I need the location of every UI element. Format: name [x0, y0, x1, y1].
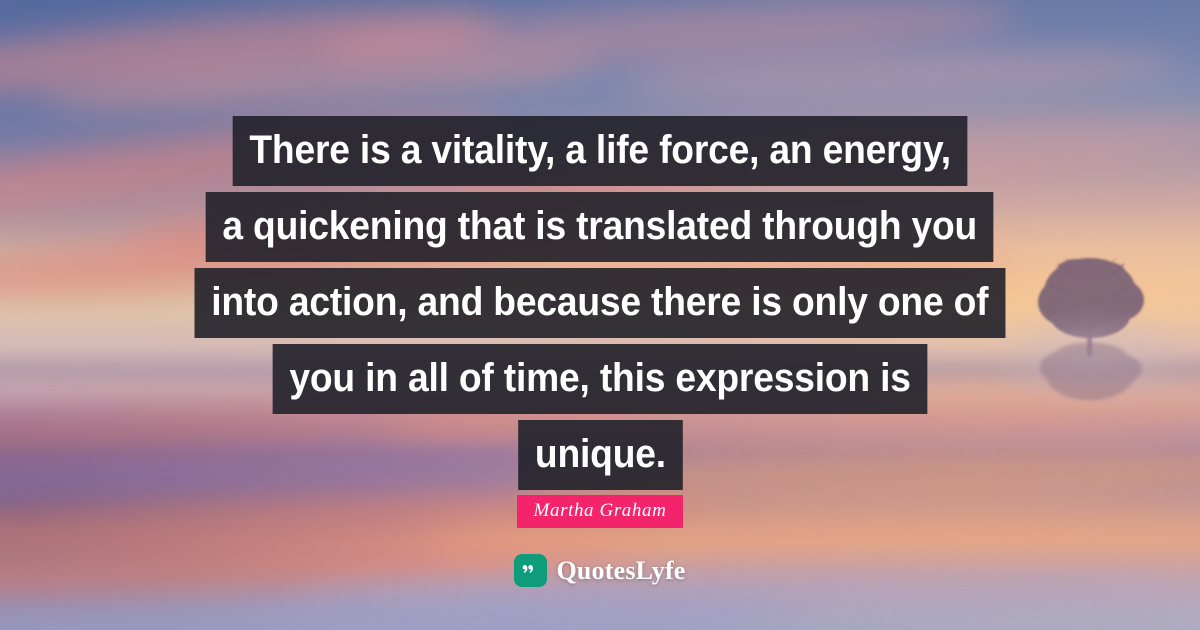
author-row: Martha Graham	[0, 495, 1200, 528]
quote-line: There is a vitality, a life force, an en…	[233, 116, 968, 186]
quote-card: There is a vitality, a life force, an en…	[0, 0, 1200, 630]
quote-line: unique.	[518, 420, 682, 490]
brand-logo[interactable]: QuotesLyfe	[0, 554, 1200, 587]
quote-line: you in all of time, this expression is	[273, 344, 928, 414]
quote-text-block: There is a vitality, a life force, an en…	[0, 116, 1200, 490]
quote-line: a quickening that is translated through …	[206, 192, 994, 262]
quote-line: into action, and because there is only o…	[195, 268, 1006, 338]
quote-marks-icon	[514, 554, 547, 587]
author-name-badge[interactable]: Martha Graham	[517, 495, 684, 528]
brand-name: QuotesLyfe	[556, 556, 685, 586]
